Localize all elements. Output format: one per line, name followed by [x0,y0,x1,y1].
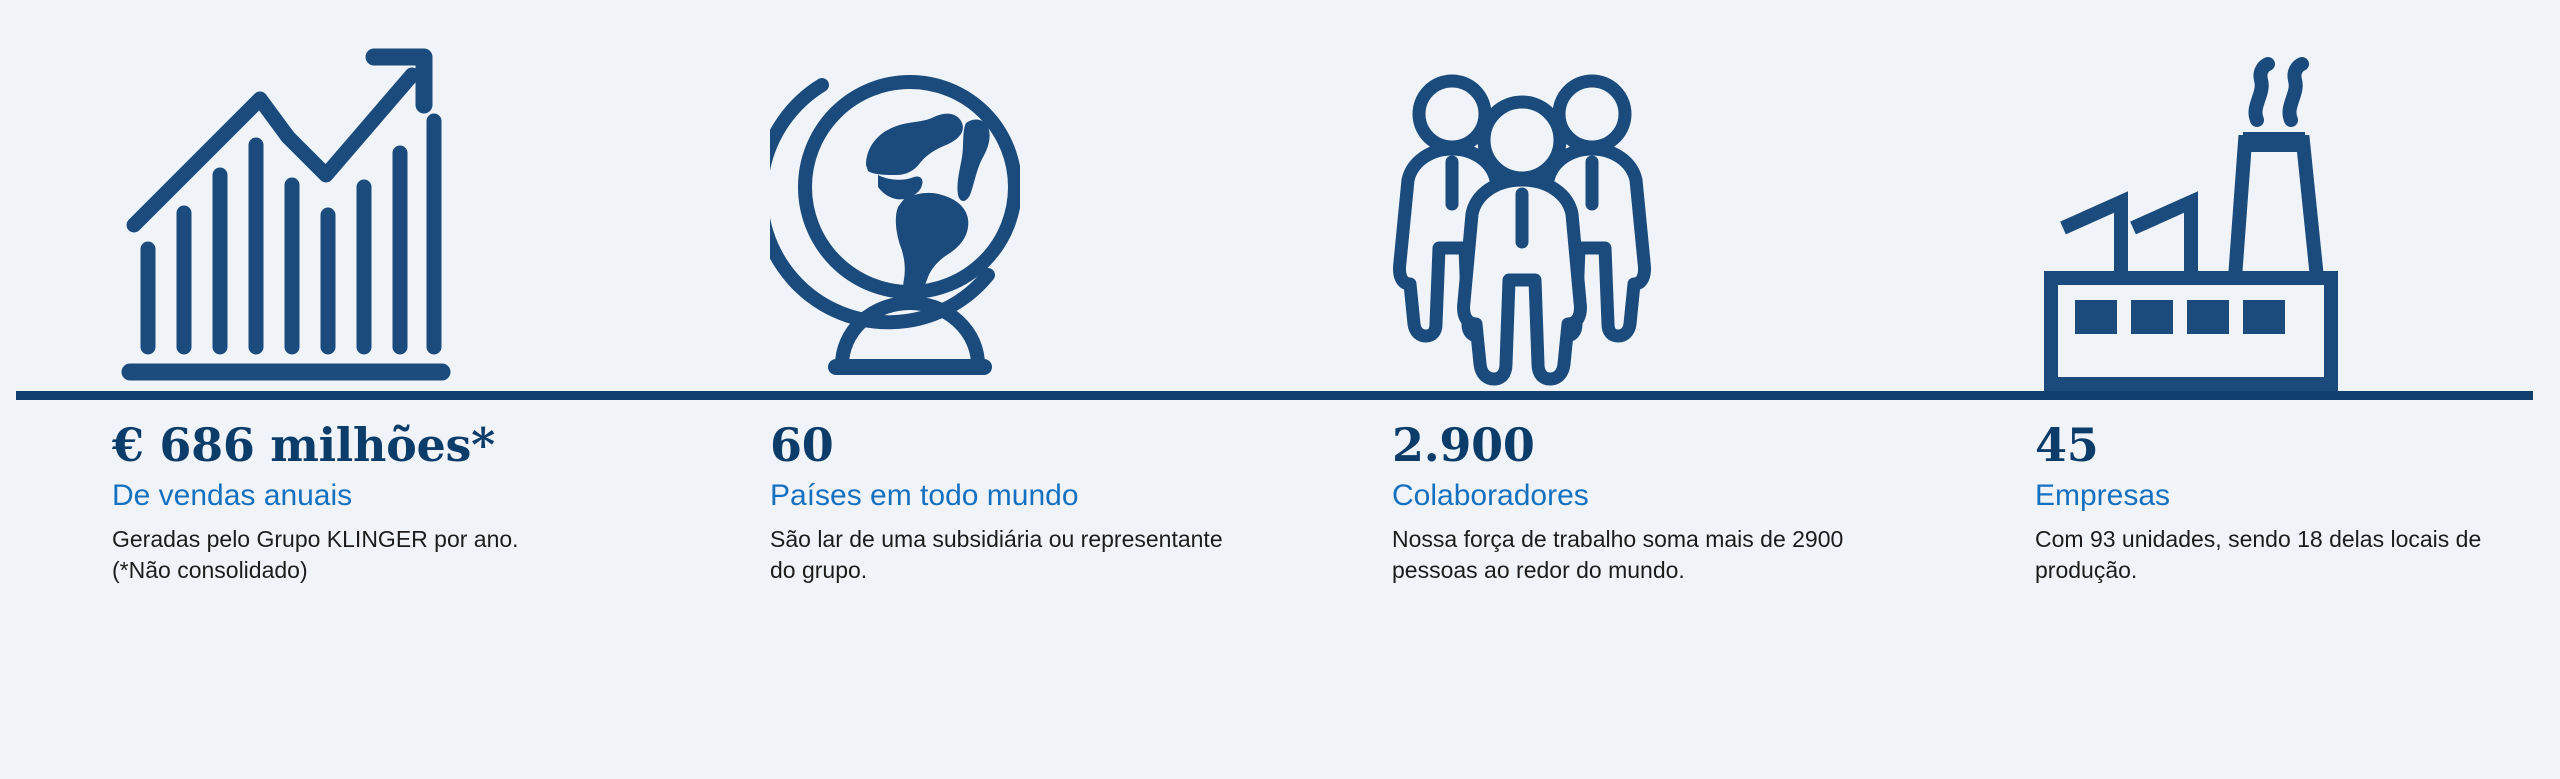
stat-label-3: Colaboradores [1392,476,2012,516]
globe-stand-icon [770,47,1020,392]
stat-block-3: 2.900 Colaboradores Nossa força de traba… [1392,418,2012,586]
stat-icon-cell-1 [112,0,672,392]
factory-icon [2035,42,2345,392]
stat-description-2: São lar de uma subsidiária ou representa… [770,524,1230,586]
stat-value-2: 60 [770,418,1370,472]
stat-description-3: Nossa força de trabalho soma mais de 290… [1392,524,1912,586]
stat-description-4: Com 93 unidades, sendo 18 delas locais d… [2035,524,2495,586]
stat-value-3: 2.900 [1392,418,2012,472]
stat-block-1: € 686 milhões* De vendas anuais Geradas … [112,418,712,586]
stat-icon-cell-3 [1392,0,1952,392]
stat-block-2: 60 Países em todo mundo São lar de uma s… [770,418,1370,586]
bar-chart-growth-icon [112,27,462,392]
stat-label-2: Países em todo mundo [770,476,1370,516]
stat-icon-cell-2 [770,0,1330,392]
horizontal-divider [16,391,2533,400]
stat-label-1: De vendas anuais [112,476,712,516]
stats-text-row: € 686 milhões* De vendas anuais Geradas … [0,418,2560,658]
three-people-icon [1392,52,1652,392]
key-figures-board: € 686 milhões* De vendas anuais Geradas … [0,0,2560,779]
factory-windows [2075,300,2285,334]
stat-icon-cell-4 [2035,0,2535,392]
icon-row [0,0,2560,392]
stat-label-4: Empresas [2035,476,2535,516]
stat-value-1: € 686 milhões* [112,418,712,472]
stat-block-4: 45 Empresas Com 93 unidades, sendo 18 de… [2035,418,2535,586]
stat-value-4: 45 [2035,418,2535,472]
stat-description-1: Geradas pelo Grupo KLINGER por ano. (*Nã… [112,524,572,586]
